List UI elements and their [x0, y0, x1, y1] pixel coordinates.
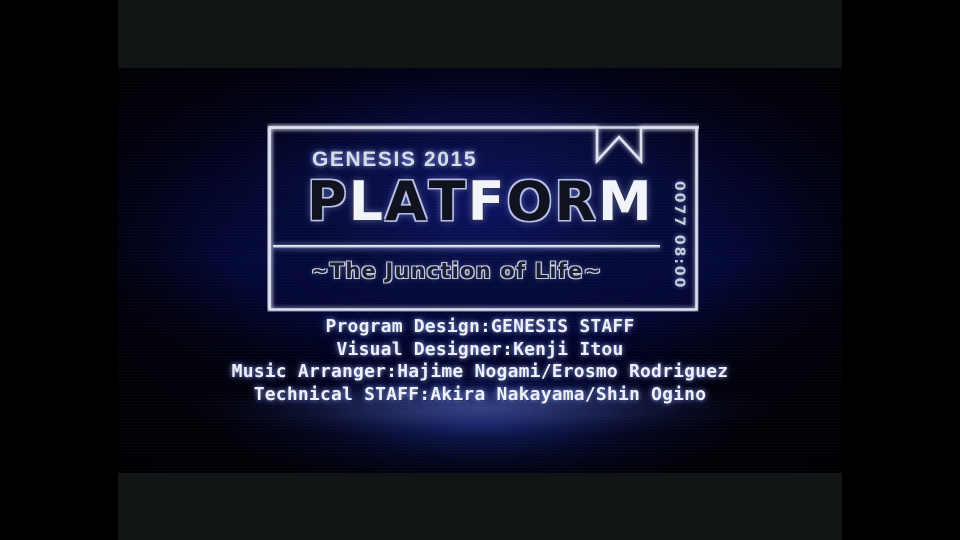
logo-title-char-5: O: [507, 175, 555, 229]
video-content-area: GENESIS 2015 PLATFORM ~The Junction of L…: [118, 68, 842, 473]
credits-block: Program Design:GENESIS STAFFVisual Desig…: [118, 316, 842, 406]
logo-title-char-0: P: [307, 175, 349, 229]
credits-line-3: Technical STAFF:Akira Nakayama/Shin Ogin…: [118, 384, 842, 407]
logo-title-char-2: A: [385, 175, 429, 229]
logo-timecode-text: 0077 08:00: [671, 181, 687, 289]
credits-line-0: Program Design:GENESIS STAFF: [118, 316, 842, 339]
logo-title-char-4: F: [468, 175, 507, 229]
logo-subtitle: ~The Junction of Life~: [311, 259, 602, 283]
logo-title-char-6: R: [554, 175, 598, 229]
logo-title-char-3: T: [429, 175, 468, 229]
logo-brand-line: GENESIS 2015: [312, 148, 477, 172]
letterbox-bottom-bar: [118, 473, 842, 540]
logo-divider: [273, 245, 660, 248]
video-player-screen: GENESIS 2015 PLATFORM ~The Junction of L…: [0, 0, 960, 540]
logo-frame: GENESIS 2015 PLATFORM ~The Junction of L…: [267, 123, 699, 312]
letterbox-top-bar: [118, 0, 842, 68]
logo-title-char-7: M: [598, 175, 654, 229]
logo-title: PLATFORM: [307, 175, 654, 229]
pillarbox-right-bar: [842, 0, 960, 540]
pillarbox-left-bar: [0, 0, 118, 540]
credits-line-1: Visual Designer:Kenji Itou: [118, 339, 842, 362]
logo-timecode: 0077 08:00: [671, 181, 689, 291]
logo-title-char-1: L: [349, 175, 385, 229]
credits-line-2: Music Arranger:Hajime Nogami/Erosmo Rodr…: [118, 361, 842, 384]
